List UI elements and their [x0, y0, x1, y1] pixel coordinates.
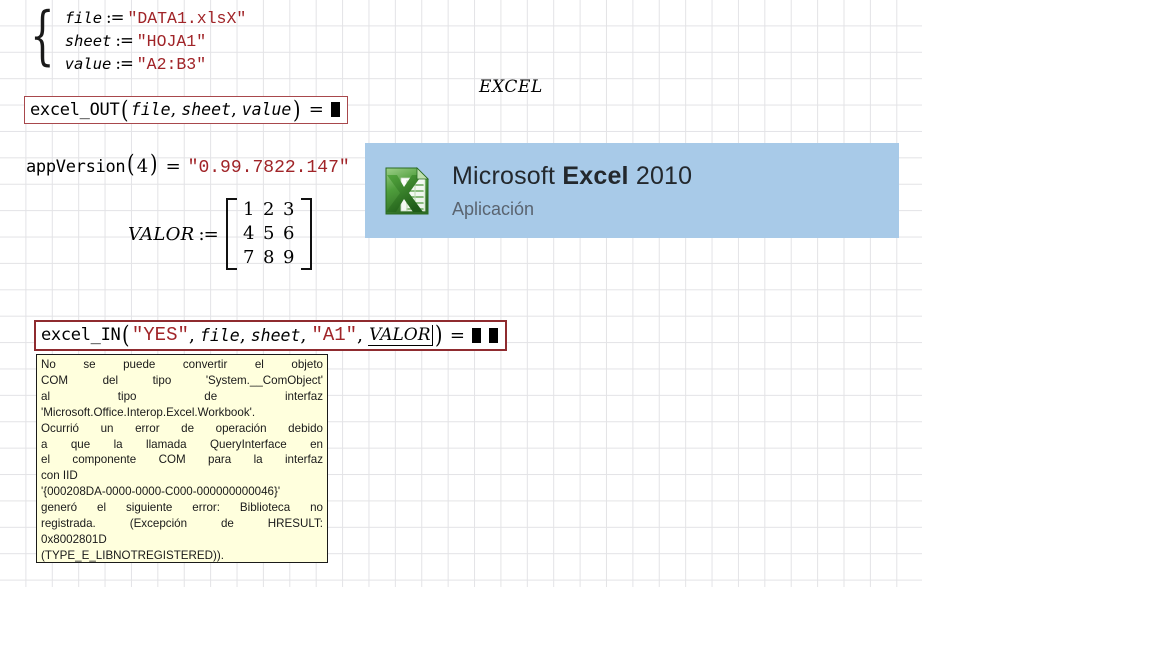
matrix-literal: 1 2 3 4 5 6 7 8 9: [226, 198, 312, 270]
error-line: generó el siguiente error: Biblioteca no: [41, 500, 323, 516]
variable-value-file: "DATA1.xlsX": [127, 9, 246, 28]
comma: ,: [300, 324, 311, 346]
close-paren: ): [293, 101, 301, 119]
open-paren: (: [127, 155, 135, 173]
matrix-variable-name: VALOR: [128, 224, 195, 245]
comma: ,: [231, 99, 242, 120]
matrix-cell[interactable]: 9: [279, 246, 299, 270]
matrix-row: 4 5 6: [239, 222, 299, 246]
variable-name-file: file: [65, 9, 102, 27]
assign-operator: :=: [102, 8, 127, 27]
excel-2010-icon: [382, 165, 434, 217]
comma: ,: [189, 324, 200, 346]
equals-operator: =: [160, 156, 188, 177]
argument-sheet: sheet: [251, 326, 301, 345]
open-paren: (: [121, 101, 129, 119]
argument-value: value: [242, 100, 292, 119]
valor-matrix-definition[interactable]: VALOR:= 1 2 3 4 5 6 7 8 9: [128, 198, 312, 270]
matrix-cell[interactable]: 2: [259, 198, 279, 222]
result-placeholder[interactable]: [489, 328, 498, 343]
matrix-right-bracket: [301, 198, 312, 270]
variable-definition-file[interactable]: file:="DATA1.xlsX": [65, 6, 247, 29]
close-paren: ): [150, 155, 158, 173]
app-version-argument: 4: [137, 156, 148, 177]
banner-title-prefix: Microsoft: [452, 162, 562, 190]
matrix-cell[interactable]: 1: [239, 198, 259, 222]
variable-value-sheet: "HOJA1": [137, 32, 206, 51]
grouping-brace: {: [30, 0, 54, 75]
argument-yes-literal: "YES": [132, 324, 189, 346]
function-name-excel-in: excel_IN: [41, 325, 120, 345]
app-version-value: "0.99.7822.147": [188, 158, 350, 178]
comma: ,: [171, 99, 182, 120]
error-line: Ocurrió un error de operación debido: [41, 421, 323, 437]
variable-definition-value[interactable]: value:="A2:B3": [65, 52, 247, 75]
matrix-row: 7 8 9: [239, 246, 299, 270]
close-paren: ): [434, 326, 442, 344]
app-version-expression[interactable]: appVersion(4)="0.99.7822.147": [26, 155, 350, 178]
comma: ,: [357, 324, 368, 346]
error-line: el componente COM para la interfaz: [41, 452, 323, 468]
open-paren: (: [122, 326, 130, 344]
variable-definition-sheet[interactable]: sheet:="HOJA1": [65, 29, 247, 52]
variable-definition-block[interactable]: { file:="DATA1.xlsX" sheet:="HOJA1" valu…: [22, 6, 246, 75]
assign-operator: :=: [111, 54, 136, 73]
error-line: COM del tipo 'System.__ComObject': [41, 373, 323, 389]
banner-subtitle: Aplicación: [452, 199, 692, 220]
argument-file: file: [131, 100, 171, 119]
comma: ,: [240, 324, 251, 346]
function-name-excel-out: excel_OUT: [30, 100, 119, 120]
function-name-app-version: appVersion: [26, 157, 125, 177]
banner-title-bold: Excel: [562, 162, 628, 190]
excel-section-caption: EXCEL: [479, 77, 543, 97]
error-line: 'Microsoft.Office.Interop.Excel.Workbook…: [41, 405, 323, 421]
banner-title: Microsoft Excel 2010: [452, 162, 692, 191]
matrix-left-bracket: [226, 198, 237, 270]
argument-file: file: [200, 326, 240, 345]
matrix-cell[interactable]: 6: [279, 222, 299, 246]
assign-operator: :=: [195, 224, 222, 245]
error-line: (TYPE_E_LIBNOTREGISTERED)).: [41, 548, 323, 563]
matrix-cell[interactable]: 4: [239, 222, 259, 246]
error-line: al tipo de interfaz: [41, 389, 323, 405]
matrix-cell[interactable]: 3: [279, 198, 299, 222]
equals-operator: =: [303, 99, 331, 120]
excel-in-expression-box[interactable]: excel_IN("YES",file,sheet,"A1",VALOR)=: [34, 320, 507, 351]
equals-operator: =: [444, 325, 472, 346]
variable-value-value: "A2:B3": [137, 55, 206, 74]
argument-sheet: sheet: [181, 100, 231, 119]
error-line: a que la llamada QueryInterface en: [41, 437, 323, 453]
matrix-cell[interactable]: 7: [239, 246, 259, 270]
error-line: con IID: [41, 468, 323, 484]
error-tooltip: No se puede convertir el objeto COM del …: [36, 354, 328, 563]
matrix-row: 1 2 3: [239, 198, 299, 222]
result-placeholder[interactable]: [472, 328, 481, 343]
argument-valor-selected[interactable]: VALOR: [368, 325, 432, 346]
matrix-cell[interactable]: 8: [259, 246, 279, 270]
error-line: '{000208DA-0000-0000-C000-000000000046}': [41, 484, 323, 500]
result-placeholder[interactable]: [331, 102, 340, 117]
banner-title-suffix: 2010: [629, 162, 693, 190]
matrix-cell[interactable]: 5: [259, 222, 279, 246]
error-line: No se puede convertir el objeto: [41, 357, 323, 373]
variable-name-sheet: sheet: [65, 32, 112, 50]
excel-application-banner[interactable]: Microsoft Excel 2010 Aplicación: [365, 143, 899, 238]
assign-operator: :=: [111, 31, 136, 50]
variable-name-value: value: [65, 55, 112, 73]
error-line: registrada. (Excepción de HRESULT:: [41, 516, 323, 532]
argument-a1-literal: "A1": [311, 324, 357, 346]
error-line: 0x8002801D: [41, 532, 323, 548]
excel-out-expression-box[interactable]: excel_OUT(file,sheet,value)=: [24, 96, 348, 124]
